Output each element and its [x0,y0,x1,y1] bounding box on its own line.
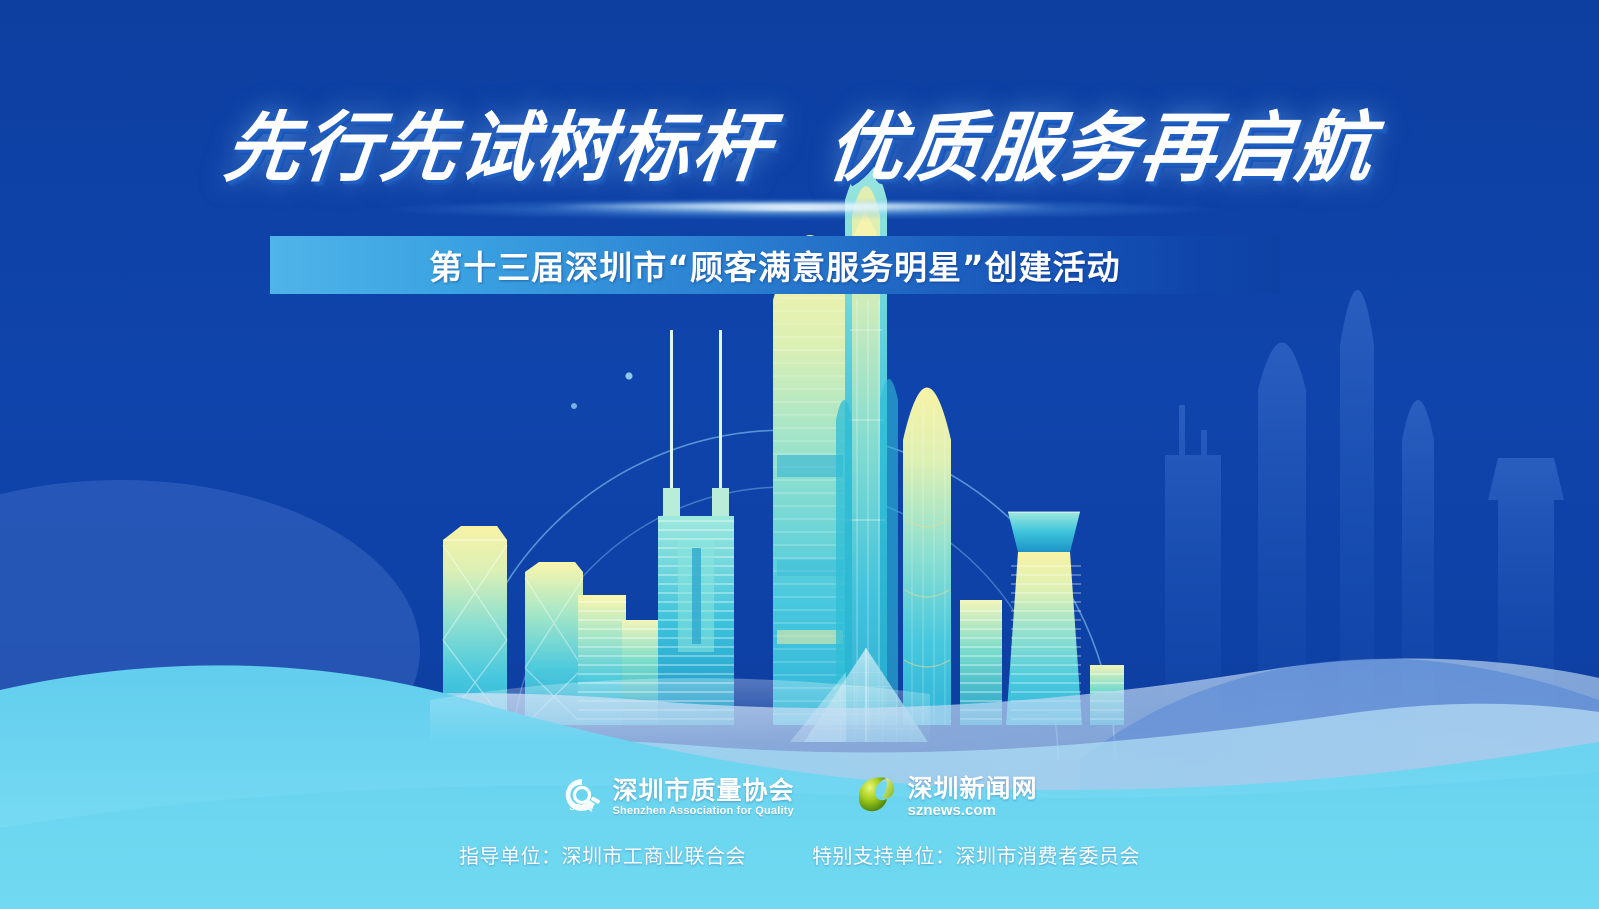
ghost-skyline [1165,290,1564,715]
logo-abbreviation: SZAQ [569,803,593,812]
promotional-banner: 先行先试树标杆 优质服务再启航 第十三届深圳市“顾客满意服务明星”创建活动 SZ… [0,0,1599,909]
page-title: 先行先试树标杆 优质服务再启航 [221,108,1378,188]
headline-container: 先行先试树标杆 优质服务再启航 [0,108,1599,188]
bullet-tower [903,388,951,726]
twin-spire-tower [658,330,734,725]
logo-name-en: Shenzhen Association for Quality [612,806,794,817]
sponsor-logo-row: SZAQ 深圳市质量协会 Shenzhen Association for Qu… [0,772,1599,821]
circle-quality-mark-icon: SZAQ [561,774,603,821]
logo-shenzhen-association-for-quality[interactable]: SZAQ 深圳市质量协会 Shenzhen Association for Qu… [561,774,794,821]
logo-name-cn: 深圳市质量协会 [612,778,794,803]
credit-guiding-unit: 指导单位：深圳市工商业联合会 [459,840,746,869]
green-leaf-swirl-icon [853,772,899,821]
flared-crown-tower [1006,512,1082,725]
rounded-ribbon-tower [773,235,847,725]
logo-name-cn: 深圳新闻网 [908,776,1038,801]
credit-special-support-unit: 特别支持单位：深圳市消费者委员会 [812,840,1140,869]
logo-name-en: sznews.com [908,803,1038,818]
subtitle-text: 第十三届深圳市“顾客满意服务明星”创建活动 [429,241,1120,289]
subtitle-band: 第十三届深圳市“顾客满意服务明星”创建活动 [270,236,1280,294]
credits-row: 指导单位：深圳市工商业联合会 特别支持单位：深圳市消费者委员会 [0,840,1599,869]
logo-sznews[interactable]: 深圳新闻网 sznews.com [853,772,1038,821]
